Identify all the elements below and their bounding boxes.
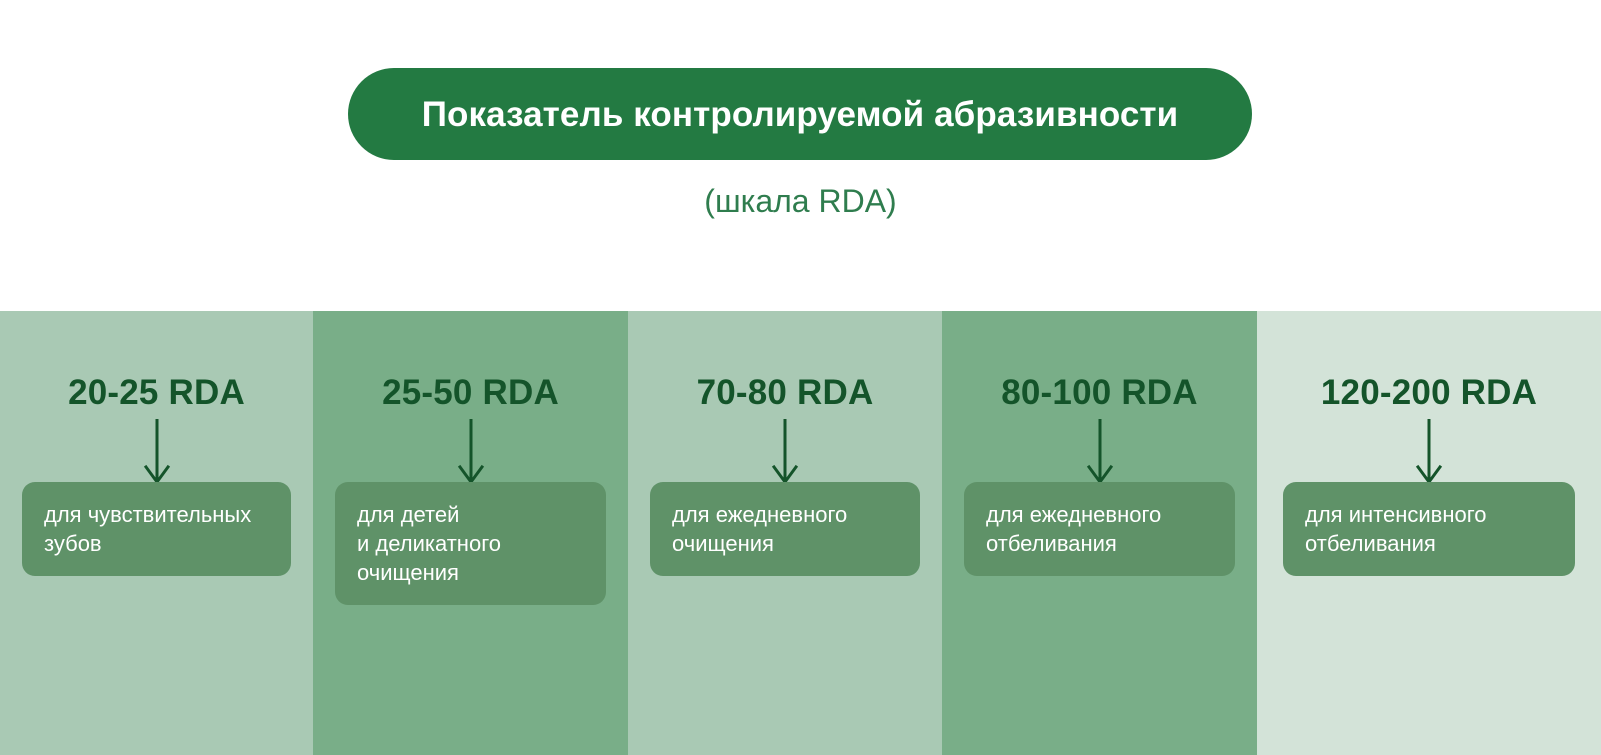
rda-range-label: 80-100 RDA [942,375,1257,410]
usage-card: для детей и деликатного очищения [335,482,606,605]
usage-card: для чувствительных зубов [22,482,291,576]
usage-card: для ежедневного очищения [650,482,920,576]
page-subtitle: (шкала RDA) [0,182,1601,220]
header-section: Показатель контролируемой абразивности (… [0,0,1601,311]
rda-scale-band: 20-25 RDA для чувствительных зубов 25-50… [0,311,1601,755]
usage-card-text: для ежедневного отбеливания [986,500,1161,558]
usage-card-text: для интенсивного отбеливания [1305,500,1487,558]
usage-card: для ежедневного отбеливания [964,482,1235,576]
arrow-down-icon [771,419,799,487]
rda-range-label: 120-200 RDA [1257,375,1601,410]
rda-range-label: 25-50 RDA [313,375,628,410]
rda-range-label: 20-25 RDA [0,375,313,410]
rda-column-80-100: 80-100 RDA для ежедневного отбеливания [942,311,1257,755]
title-pill: Показатель контролируемой абразивности [348,68,1252,160]
arrow-down-icon [1086,419,1114,487]
arrow-down-icon [457,419,485,487]
rda-column-120-200: 120-200 RDA для интенсивного отбеливания [1257,311,1601,755]
rda-range-label: 70-80 RDA [628,375,942,410]
rda-column-25-50: 25-50 RDA для детей и деликатного очищен… [313,311,628,755]
arrow-down-icon [143,419,171,487]
infographic-page: Показатель контролируемой абразивности (… [0,0,1601,755]
page-title: Показатель контролируемой абразивности [422,97,1179,132]
usage-card: для интенсивного отбеливания [1283,482,1575,576]
usage-card-text: для детей и деликатного очищения [357,500,501,587]
rda-column-20-25: 20-25 RDA для чувствительных зубов [0,311,313,755]
usage-card-text: для чувствительных зубов [44,500,251,558]
usage-card-text: для ежедневного очищения [672,500,847,558]
arrow-down-icon [1415,419,1443,487]
rda-column-70-80: 70-80 RDA для ежедневного очищения [628,311,942,755]
